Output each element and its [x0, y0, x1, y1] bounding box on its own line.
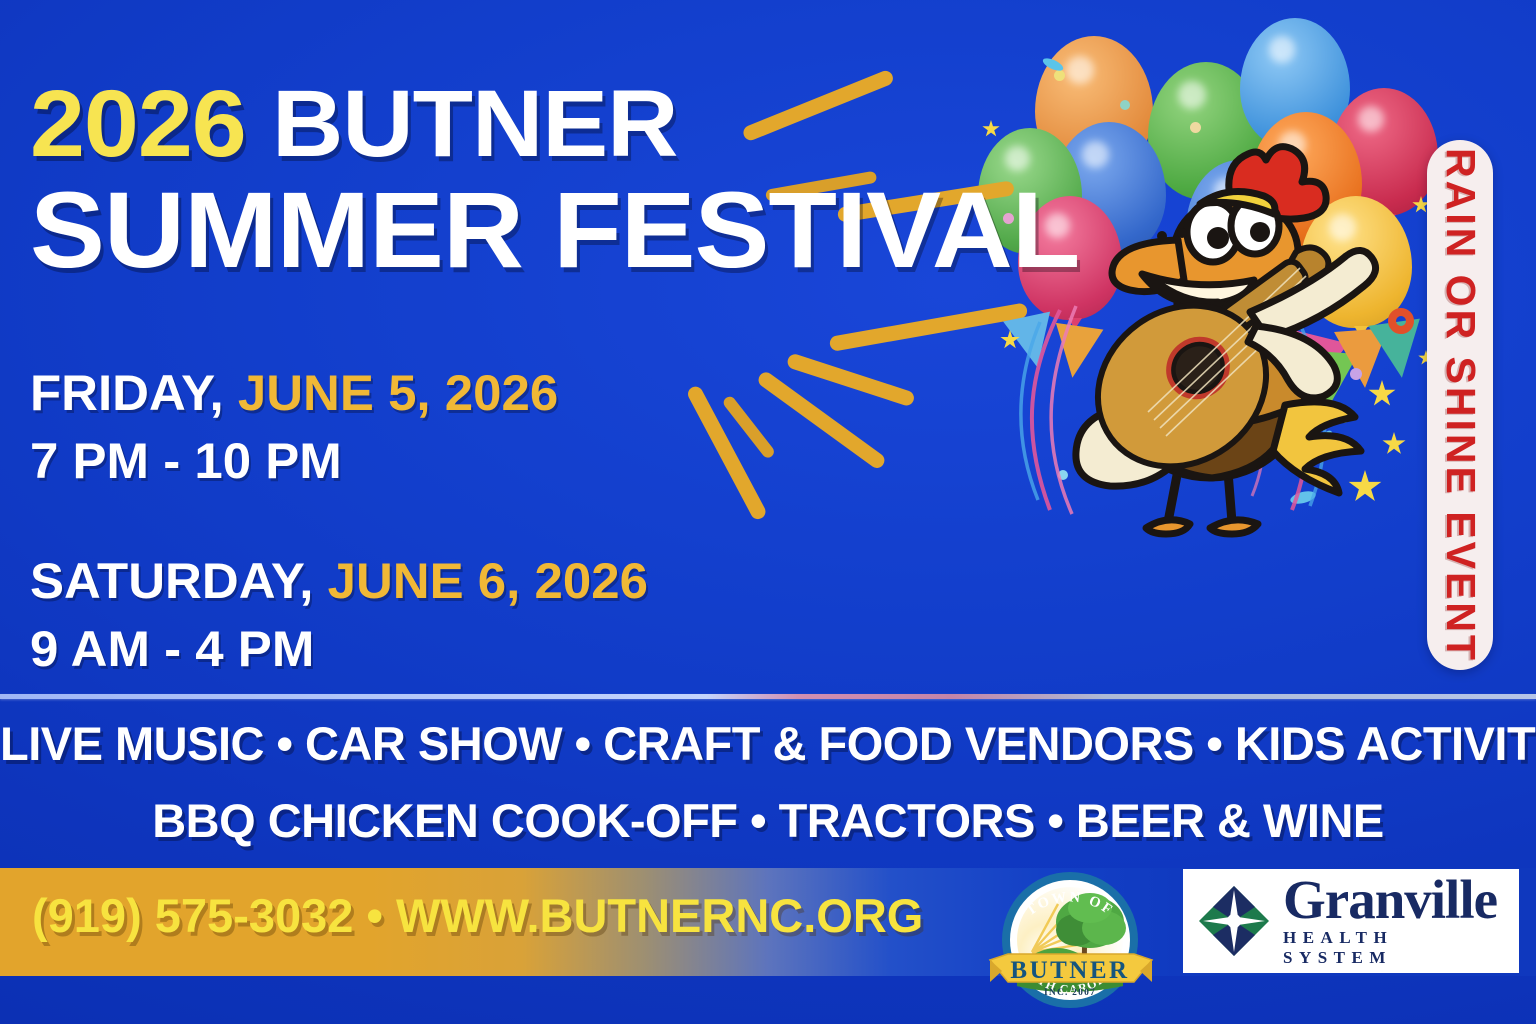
star-decoration — [1000, 330, 1020, 350]
seal-incorporated-text: INC. 2007 — [1044, 988, 1096, 998]
granville-health-system-logo: Granville HEALTH SYSTEM — [1183, 869, 1519, 973]
title-year: 2026 — [30, 71, 246, 177]
activities-line-1: LIVE MUSIC • CAR SHOW • CRAFT & FOOD VEN… — [0, 716, 1536, 771]
day-label-friday: FRIDAY, — [30, 365, 224, 421]
granville-subtitle: HEALTH SYSTEM — [1283, 928, 1511, 968]
title-line-1: 2026 BUTNER — [30, 78, 1079, 170]
rooster-mascot — [1050, 140, 1420, 550]
town-of-butner-seal: TOWN OF NORTH CAROLINA BUTNER INC. 2007 — [986, 856, 1154, 1024]
time-friday: 7 PM - 10 PM — [30, 432, 648, 490]
confetti-dot — [1120, 100, 1130, 110]
rain-or-shine-label: RAIN OR SHINE EVENT — [1437, 148, 1484, 663]
burst-ray — [685, 384, 768, 522]
confetti-dot — [1041, 56, 1065, 73]
time-saturday: 9 AM - 4 PM — [30, 620, 648, 678]
burst-ray — [756, 369, 888, 470]
date-row-friday: FRIDAY, JUNE 5, 2026 — [30, 368, 648, 418]
burst-ray — [829, 302, 1029, 352]
granville-name: Granville — [1283, 874, 1511, 926]
date-spacer — [30, 490, 636, 556]
section-divider — [0, 694, 1536, 699]
title-line-2: SUMMER FESTIVAL — [30, 178, 1079, 283]
activities-list: LIVE MUSIC • CAR SHOW • CRAFT & FOOD VEN… — [0, 716, 1536, 848]
granville-diamond-icon — [1197, 884, 1271, 958]
confetti-dot — [1190, 122, 1201, 133]
burst-ray — [786, 352, 916, 407]
date-row-saturday: SATURDAY, JUNE 6, 2026 — [30, 556, 648, 606]
festival-poster: 2026 BUTNER SUMMER FESTIVAL FRIDAY, JUNE… — [0, 0, 1536, 1024]
contact-info[interactable]: (919) 575-3032 • WWW.BUTNERNC.ORG — [32, 888, 923, 943]
event-dates: FRIDAY, JUNE 5, 2026 7 PM - 10 PM SATURD… — [30, 368, 636, 678]
title-city: BUTNER — [272, 71, 677, 177]
rain-or-shine-badge: RAIN OR SHINE EVENT — [1427, 140, 1493, 670]
seal-banner-text: BUTNER — [1010, 957, 1129, 984]
date-value-friday: JUNE 5, 2026 — [238, 365, 558, 421]
poster-title: 2026 BUTNER SUMMER FESTIVAL — [30, 78, 1039, 283]
activities-line-2: BBQ CHICKEN COOK-OFF • TRACTORS • BEER &… — [0, 793, 1536, 848]
balloon-lightblue-1 — [1240, 18, 1350, 150]
granville-wordmark: Granville HEALTH SYSTEM — [1283, 874, 1511, 968]
date-value-saturday: JUNE 6, 2026 — [328, 553, 648, 609]
day-label-saturday: SATURDAY, — [30, 553, 313, 609]
burst-ray — [721, 394, 776, 460]
